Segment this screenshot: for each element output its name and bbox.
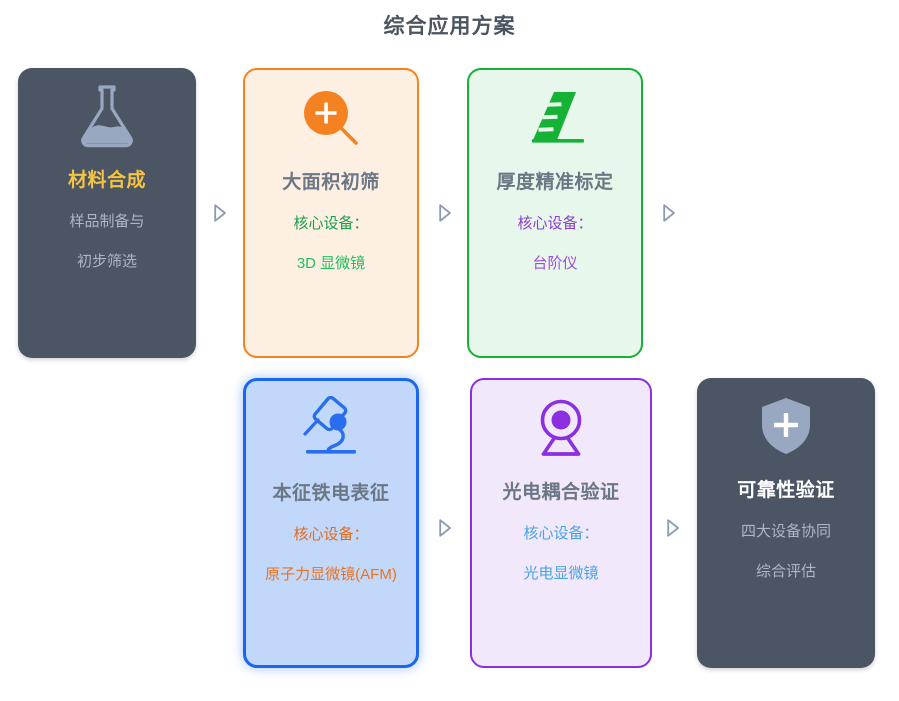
card-title: 材料合成: [68, 170, 146, 193]
card-title: 可靠性验证: [737, 480, 835, 503]
card-subtitle-2: 台阶仪: [532, 255, 577, 273]
card-subtitle-1: 核心设备：: [517, 215, 592, 233]
card-subtitle-2: 初步筛选: [77, 253, 137, 271]
diagram-canvas: 综合应用方案 材料合成 样品制备与 初步筛选: [0, 0, 899, 701]
arrow-2: [437, 203, 453, 223]
card-title: 厚度精准标定: [496, 172, 613, 195]
card-subtitle-1: 核心设备：: [293, 215, 368, 233]
microscope-icon: [295, 396, 367, 462]
shield-plus-icon: [756, 394, 816, 458]
card-subtitle-2: 综合评估: [756, 563, 816, 581]
card-subtitle-1: 核心设备：: [523, 525, 598, 543]
camera-lens-icon: [530, 396, 592, 460]
arrow-4: [437, 518, 453, 538]
card-intrinsic-ferroelectric[interactable]: 本征铁电表征 核心设备： 原子力显微镜(AFM): [243, 378, 419, 668]
card-title: 本征铁电表征: [272, 483, 389, 506]
flask-icon-wrap: [18, 68, 196, 164]
card-subtitle-2: 3D 显微镜: [297, 255, 365, 273]
step-profiler-icon-wrap: [469, 70, 641, 166]
arrow-5: [665, 518, 681, 538]
card-title: 光电耦合验证: [502, 482, 619, 505]
card-subtitle-2: 原子力显微镜(AFM): [265, 566, 397, 584]
flask-icon: [76, 83, 138, 149]
magnifier-plus-icon: [298, 85, 364, 151]
card-subtitle-1: 样品制备与: [69, 213, 144, 231]
card-subtitle-2: 光电显微镜: [523, 565, 598, 583]
camera-lens-icon-wrap: [472, 380, 650, 476]
card-large-area-screening[interactable]: 大面积初筛 核心设备： 3D 显微镜: [243, 68, 419, 358]
step-profiler-icon: [521, 86, 589, 150]
shield-plus-icon-wrap: [697, 378, 875, 474]
card-thickness-calibration[interactable]: 厚度精准标定 核心设备： 台阶仪: [467, 68, 643, 358]
card-material-synthesis[interactable]: 材料合成 样品制备与 初步筛选: [18, 68, 196, 358]
card-subtitle-1: 四大设备协同: [741, 523, 831, 541]
magnifier-plus-icon-wrap: [245, 70, 417, 166]
card-subtitle-1: 核心设备：: [293, 526, 368, 544]
page-title: 综合应用方案: [0, 10, 899, 40]
microscope-icon-wrap: [246, 381, 416, 477]
card-reliability-verification[interactable]: 可靠性验证 四大设备协同 综合评估: [697, 378, 875, 668]
arrow-3: [661, 203, 677, 223]
arrow-1: [212, 203, 228, 223]
card-title: 大面积初筛: [282, 172, 380, 195]
card-photoelectric-coupling[interactable]: 光电耦合验证 核心设备： 光电显微镜: [470, 378, 652, 668]
